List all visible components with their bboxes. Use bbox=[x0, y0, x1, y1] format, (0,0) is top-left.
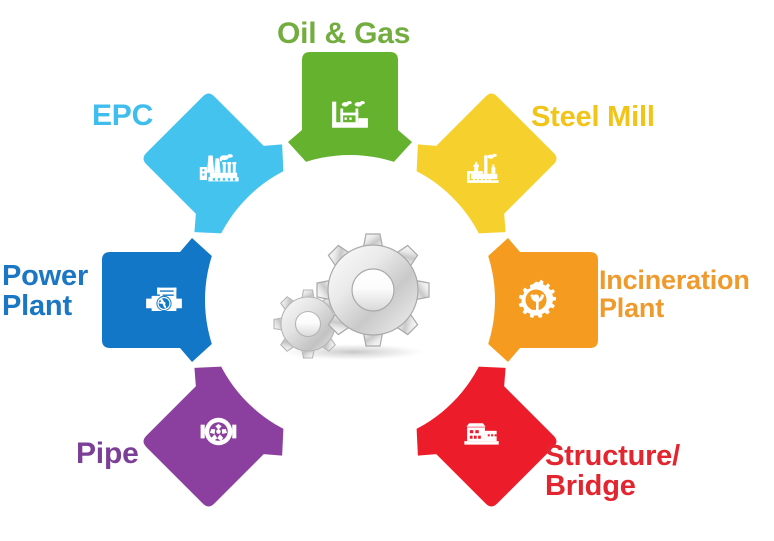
label-epc: EPC bbox=[92, 100, 153, 131]
segment-shape-incineration-plant bbox=[480, 238, 604, 362]
segment-shape-oil-gas bbox=[288, 46, 412, 170]
label-steel-mill: Steel Mill bbox=[531, 102, 655, 132]
label-power-plant: Power Plant bbox=[2, 261, 88, 321]
label-oil-gas: Oil & Gas bbox=[277, 18, 410, 49]
diagram-canvas: Oil & Gas Steel Mill Incineration Plant … bbox=[0, 0, 774, 541]
label-incineration-plant: Incineration Plant bbox=[599, 266, 750, 322]
label-pipe: Pipe bbox=[76, 438, 139, 469]
segment-shape-power-plant bbox=[96, 238, 220, 362]
center-gears-icon bbox=[253, 218, 447, 368]
label-structure-bridge: Structure/ Bridge bbox=[545, 441, 680, 501]
